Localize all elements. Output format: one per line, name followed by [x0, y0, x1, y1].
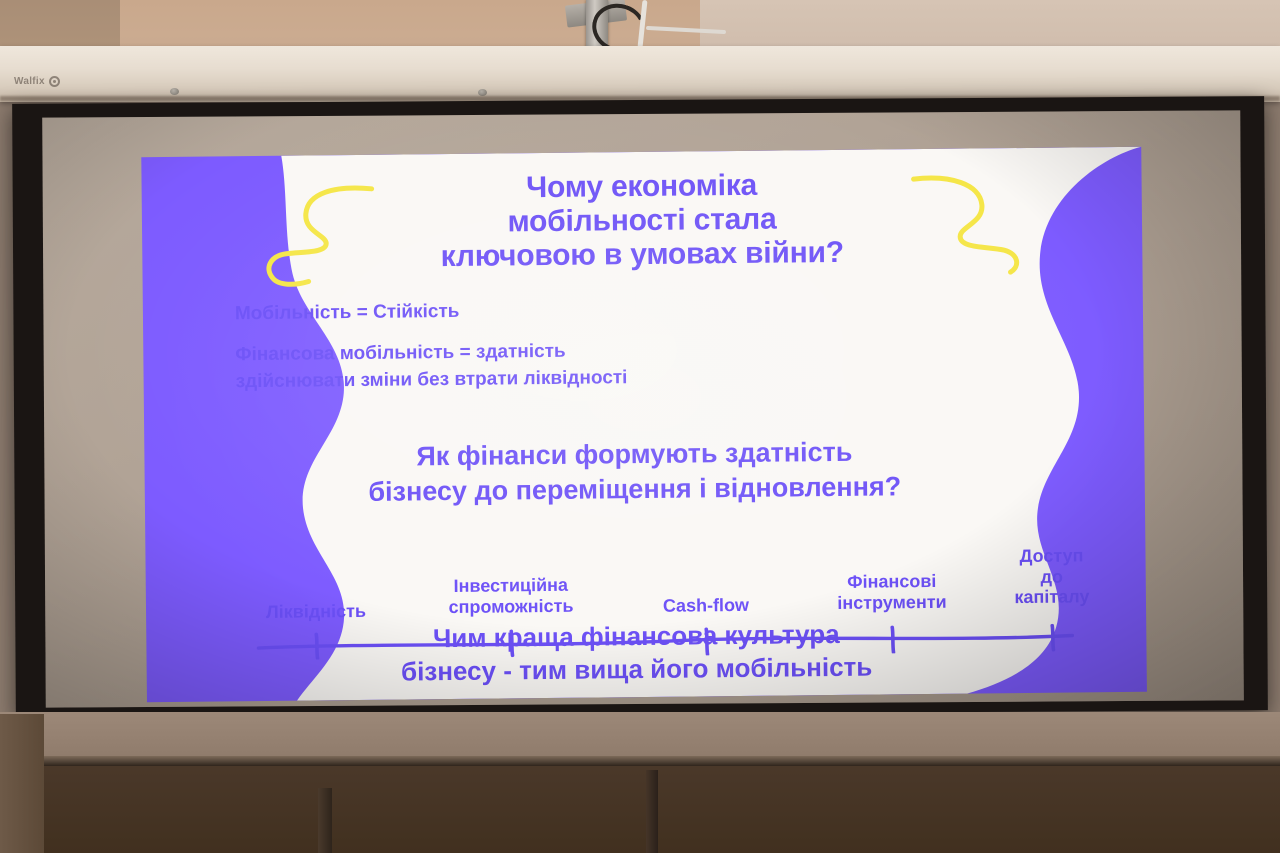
screen-housing-bar [0, 46, 1280, 102]
screen-brand-label: Walfix [14, 76, 45, 87]
housing-screw [170, 88, 179, 95]
conclusion-line-2: бізнесу - тим вища його мобільність [242, 649, 1032, 690]
projection-screen: Чому економіка мобільності стала ключово… [12, 96, 1268, 718]
slide-content: Чому економіка мобільності стала ключово… [141, 147, 1147, 702]
slide-conclusion-block: Чим краща фінансова культура бізнесу - т… [241, 616, 1032, 690]
housing-screw [478, 89, 487, 96]
lede-line-2: Фінансова мобільність = здатність здійсн… [235, 335, 936, 396]
timeline-label-4: Доступ до капіталу [1014, 545, 1090, 607]
left-pillar [0, 714, 44, 853]
projection-surface: Чому економіка мобільності стала ключово… [42, 110, 1244, 707]
slide-title-block: Чому економіка мобільності стала ключово… [311, 167, 972, 276]
timeline-label-1: Інвестиційна спроможність [448, 575, 573, 617]
slide-lede: Мобільність = Стійкість Фінансова мобіль… [235, 294, 936, 396]
circle-r-mark-icon [49, 76, 60, 87]
timeline-label-0: Ліквідність [266, 601, 366, 623]
presentation-slide: Чому економіка мобільності стала ключово… [141, 147, 1147, 702]
table-edge [0, 756, 1280, 766]
question-line-2: бізнесу до переміщення і відновлення? [240, 468, 1030, 511]
slide-title: Чому економіка мобільності стала ключово… [311, 167, 972, 276]
screen-brand-logo: Walfix [14, 76, 60, 87]
stand-pole-right [646, 770, 658, 853]
timeline-label-2: Cash-flow [663, 595, 749, 616]
timeline-label-3: Фінансові інструменти [837, 571, 947, 613]
photo-scene: Walfix [0, 0, 1280, 853]
slide-question-block: Як фінанси формують здатність бізнесу до… [239, 433, 1030, 511]
stand-pole-left [318, 788, 332, 853]
